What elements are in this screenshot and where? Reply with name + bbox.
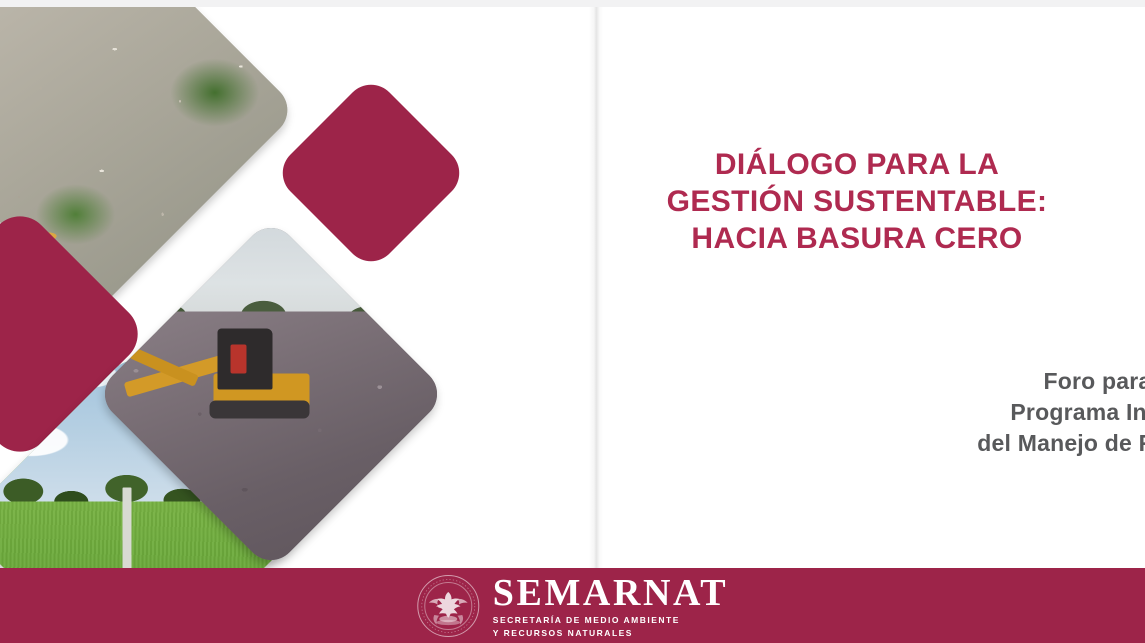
mexican-coat-of-arms-icon [417, 575, 479, 637]
semarnat-wordmark: SEMARNAT SECRETARÍA DE MEDIO AMBIENTE Y … [493, 573, 728, 639]
footer-bar: SEMARNAT SECRETARÍA DE MEDIO AMBIENTE Y … [0, 568, 1145, 643]
excavator-operator [230, 344, 247, 373]
seal-emblem [417, 575, 479, 637]
excavator-machine [121, 319, 331, 417]
subtitle-line-1: Foro para el [603, 366, 1145, 397]
page-title: DIÁLOGO PARA LA GESTIÓN SUSTENTABLE: HAC… [603, 146, 1111, 257]
subtitle-line-2: Programa Integral [603, 397, 1145, 428]
presentation-slide: DIÁLOGO PARA LA GESTIÓN SUSTENTABLE: HAC… [0, 0, 1145, 643]
excavator-track [209, 401, 310, 419]
panel-divider [589, 7, 603, 568]
field-post [123, 487, 131, 568]
title-line-2: GESTIÓN SUSTENTABLE: [603, 183, 1111, 220]
title-line-1: DIÁLOGO PARA LA [603, 146, 1111, 183]
image-collage [0, 7, 600, 568]
semarnat-sub-line-1: SECRETARÍA DE MEDIO AMBIENTE [493, 615, 728, 626]
footer-logo-lockup: SEMARNAT SECRETARÍA DE MEDIO AMBIENTE Y … [417, 573, 728, 639]
page-subtitle: Foro para el Programa Integral del Manej… [603, 366, 1145, 459]
accent-diamond-top [272, 74, 470, 272]
subtitle-line-3: del Manejo de Residuos [603, 428, 1145, 459]
text-panel: DIÁLOGO PARA LA GESTIÓN SUSTENTABLE: HAC… [603, 7, 1145, 568]
semarnat-sub-line-2: Y RECURSOS NATURALES [493, 628, 728, 639]
title-line-3: HACIA BASURA CERO [603, 220, 1111, 257]
semarnat-name: SEMARNAT [493, 573, 728, 613]
top-strip [0, 0, 1145, 7]
